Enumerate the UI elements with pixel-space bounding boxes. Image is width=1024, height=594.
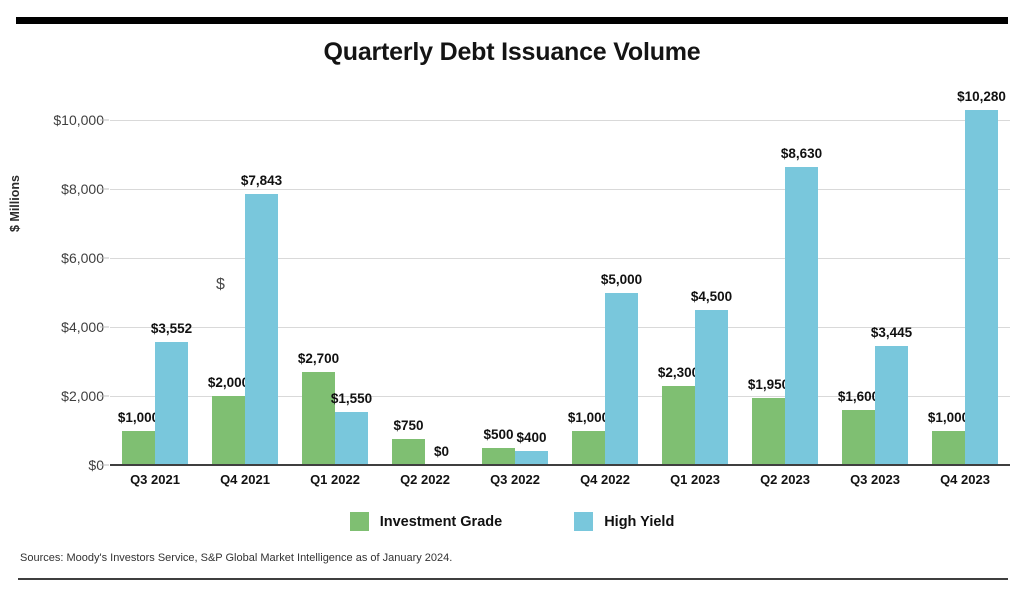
x-axis-category-label: Q2 2022	[400, 472, 450, 487]
y-axis-tick-label: $0	[10, 457, 104, 473]
bar-value-label: $750	[393, 418, 423, 433]
bar-high-yield-q4-2022[interactable]	[605, 293, 638, 466]
bar-value-label: $7,843	[241, 173, 282, 188]
x-axis-category-label: Q2 2023	[760, 472, 810, 487]
bar-value-label: $3,445	[871, 325, 912, 340]
bar-value-label: $1,000	[118, 410, 159, 425]
plot-area: $1,000$3,552$2,000$7,843$2,700$1,550$750…	[110, 95, 1010, 465]
bar-value-label: $8,630	[781, 146, 822, 161]
bar-high-yield-q1-2023[interactable]	[695, 310, 728, 465]
bar-investment-grade-q4-2022[interactable]	[572, 431, 605, 466]
bar-investment-grade-q3-2023[interactable]	[842, 410, 875, 465]
bar-value-label: $0	[434, 444, 449, 459]
bar-value-label: $5,000	[601, 272, 642, 287]
x-axis-category-label: Q3 2023	[850, 472, 900, 487]
x-axis-category-label: Q1 2023	[670, 472, 720, 487]
y-axis-tick-label: $8,000	[10, 181, 104, 197]
legend-item-label: Investment Grade	[380, 514, 503, 530]
bar-value-label: $2,000	[208, 375, 249, 390]
page-title: Quarterly Debt Issuance Volume	[0, 38, 1024, 67]
bar-value-label: $1,000	[568, 410, 609, 425]
x-axis-category-label: Q4 2023	[940, 472, 990, 487]
source-note: Sources: Moody's Investors Service, S&P …	[20, 552, 452, 564]
bar-high-yield-q4-2021[interactable]	[245, 194, 278, 465]
bar-value-label: $3,552	[151, 321, 192, 336]
bar-value-label: $1,600	[838, 389, 879, 404]
x-axis-category-label: Q3 2022	[490, 472, 540, 487]
top-divider-rule	[16, 17, 1008, 24]
legend-swatch-icon	[350, 512, 369, 531]
bar-investment-grade-q4-2021[interactable]	[212, 396, 245, 465]
bar-value-label: $1,950	[748, 377, 789, 392]
bar-investment-grade-q2-2023[interactable]	[752, 398, 785, 465]
gridline	[110, 189, 1010, 190]
bar-investment-grade-q3-2022[interactable]	[482, 448, 515, 465]
bar-investment-grade-q4-2023[interactable]	[932, 431, 965, 466]
bottom-divider-rule	[18, 578, 1008, 580]
bar-investment-grade-q1-2023[interactable]	[662, 386, 695, 465]
legend-item-investment-grade[interactable]: Investment Grade	[350, 512, 503, 531]
bar-value-label: $2,300	[658, 365, 699, 380]
bar-value-label: $500	[483, 427, 513, 442]
bar-value-label: $4,500	[691, 289, 732, 304]
y-axis-tick-mark	[100, 258, 109, 259]
bar-high-yield-q1-2022[interactable]	[335, 412, 368, 465]
legend-item-label: High Yield	[604, 514, 674, 530]
bar-high-yield-q3-2023[interactable]	[875, 346, 908, 465]
x-axis-baseline	[110, 464, 1010, 466]
bar-value-label: $10,280	[957, 89, 1006, 104]
y-axis-tick-mark	[100, 396, 109, 397]
x-axis-category-label: Q4 2022	[580, 472, 630, 487]
y-axis-tick-label: $2,000	[10, 388, 104, 404]
gridline	[110, 120, 1010, 121]
y-axis-tick-label: $4,000	[10, 319, 104, 335]
bar-investment-grade-q1-2022[interactable]	[302, 372, 335, 465]
y-axis-tick-mark	[100, 120, 109, 121]
chart-slide: Quarterly Debt Issuance Volume $ Million…	[0, 0, 1024, 594]
bar-high-yield-q4-2023[interactable]	[965, 110, 998, 465]
x-axis-category-label: Q1 2022	[310, 472, 360, 487]
bar-value-label: $2,700	[298, 351, 339, 366]
y-axis-tick-mark	[100, 189, 109, 190]
y-axis-tick-label: $6,000	[10, 250, 104, 266]
bar-investment-grade-q2-2022[interactable]	[392, 439, 425, 465]
bar-value-label: $1,000	[928, 410, 969, 425]
bar-value-label: $400	[516, 430, 546, 445]
bar-investment-grade-q3-2021[interactable]	[122, 431, 155, 466]
chart-legend: Investment GradeHigh Yield	[0, 512, 1024, 531]
legend-item-high-yield[interactable]: High Yield	[574, 512, 674, 531]
y-axis-tick-group: $10,000$8,000$6,000$4,000$2,000$0	[0, 0, 104, 594]
bar-value-label: $1,550	[331, 391, 372, 406]
bar-high-yield-q2-2023[interactable]	[785, 167, 818, 465]
y-axis-tick-mark	[100, 327, 109, 328]
y-axis-tick-mark	[100, 465, 109, 466]
x-axis-category-label: Q4 2021	[220, 472, 270, 487]
bar-high-yield-q3-2021[interactable]	[155, 342, 188, 465]
x-axis-category-label: Q3 2021	[130, 472, 180, 487]
y-axis-tick-label: $10,000	[10, 112, 104, 128]
stray-dollar-glyph: $	[216, 276, 225, 294]
bar-high-yield-q3-2022[interactable]	[515, 451, 548, 465]
legend-swatch-icon	[574, 512, 593, 531]
